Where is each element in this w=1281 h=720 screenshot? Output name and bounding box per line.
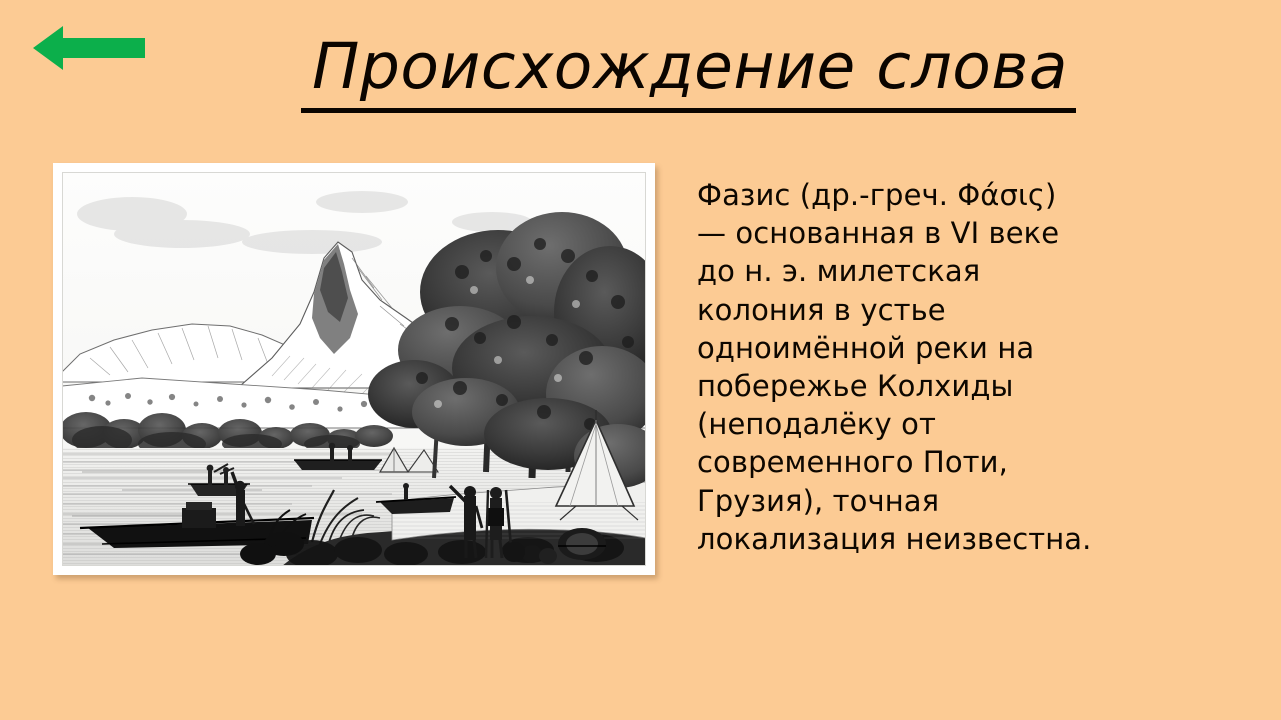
body-line: локализация неизвестна. <box>697 520 1097 558</box>
engraving-image <box>62 172 646 566</box>
title-underline <box>301 108 1076 113</box>
body-line: Грузия), точная <box>697 482 1097 520</box>
body-line: — основанная в VI веке <box>697 214 1097 252</box>
body-line: колония в устье <box>697 291 1097 329</box>
body-line: одноимённой реки на <box>697 329 1097 367</box>
body-line: до н. э. милетская <box>697 252 1097 290</box>
back-arrow-shape <box>33 26 145 70</box>
illustration-frame <box>53 163 655 575</box>
body-line: побережье Колхиды <box>697 367 1097 405</box>
body-line: (неподалёку от <box>697 405 1097 443</box>
body-paragraph: Фазис (др.-греч. Φάσις) — основанная в V… <box>697 176 1097 558</box>
body-line: современного Поти, <box>697 443 1097 481</box>
presentation-slide: Происхождение слова <box>0 0 1281 720</box>
body-line: Фазис (др.-греч. Φάσις) <box>697 176 1097 214</box>
page-title: Происхождение слова <box>300 34 1080 100</box>
back-arrow-icon[interactable] <box>33 25 145 71</box>
